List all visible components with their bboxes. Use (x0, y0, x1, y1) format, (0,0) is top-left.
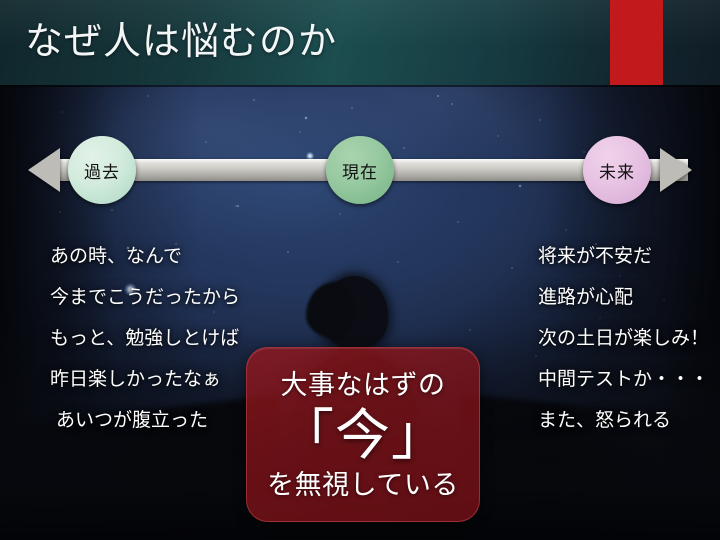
page-title: なぜ人は悩むのか (25, 17, 337, 67)
accent-bar (610, 0, 663, 85)
list-item: もっと、勉強しとけば (50, 318, 240, 359)
list-item: 進路が心配 (538, 277, 709, 318)
timeline-node-past-label: 過去 (84, 158, 120, 183)
list-item: あの時、なんで (50, 236, 240, 277)
past-thoughts-list: あの時、なんで 今までこうだったから もっと、勉強しとけば 昨日楽しかったなぁ … (50, 236, 240, 441)
callout-main-line: 「今」 (279, 404, 447, 466)
list-item: あいつが腹立った (50, 400, 240, 441)
timeline-node-past[interactable]: 過去 (68, 136, 136, 204)
timeline-node-future[interactable]: 未来 (583, 136, 651, 204)
future-thoughts-list: 将来が不安だ 進路が心配 次の土日が楽しみ！ 中間テストか・・・ また、怒られる (538, 236, 709, 441)
list-item: また、怒られる (538, 400, 709, 441)
list-item: 将来が不安だ (538, 236, 709, 277)
callout-bottom-line: を無視している (267, 468, 459, 502)
slide-canvas: なぜ人は悩むのか 過去 現在 未来 あの時、なんで 今までこうだったから もっと… (0, 0, 720, 540)
callout-box: 大事なはずの 「今」 を無視している (246, 347, 480, 522)
list-item: 中間テストか・・・ (538, 359, 709, 400)
timeline-node-present[interactable]: 現在 (326, 136, 394, 204)
timeline-node-present-label: 現在 (342, 158, 378, 183)
list-item: 昨日楽しかったなぁ (50, 359, 240, 400)
title-bar-underline (0, 85, 720, 87)
list-item: 次の土日が楽しみ！ (538, 318, 709, 359)
timeline-node-future-label: 未来 (599, 158, 635, 183)
list-item: 今までこうだったから (50, 277, 240, 318)
callout-top-line: 大事なはずの (281, 368, 446, 402)
